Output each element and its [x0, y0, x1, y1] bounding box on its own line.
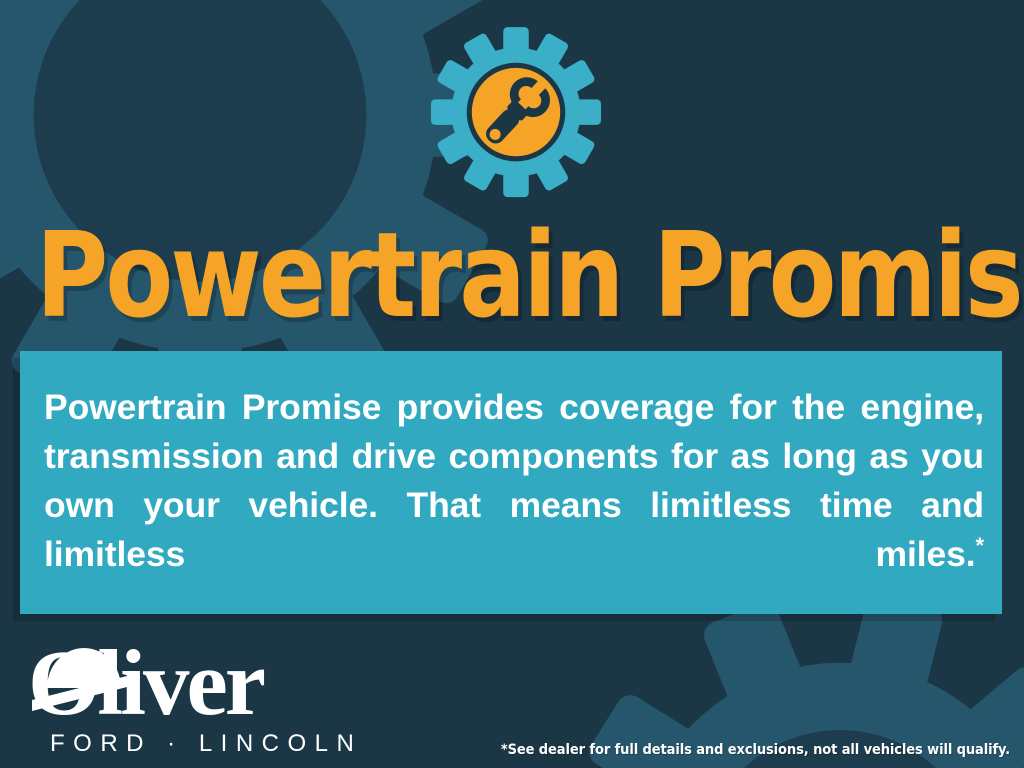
dealer-logo: Oliver FORD · LINCOLN	[28, 638, 328, 760]
bowler-hat-icon	[29, 642, 139, 717]
gear-wrench-icon	[431, 26, 601, 199]
dealer-logo-subtitle: FORD · LINCOLN	[50, 730, 362, 758]
coverage-body-text: Powertrain Promise provides coverage for…	[44, 387, 984, 574]
page-title: Powertrain Promise	[36, 216, 988, 334]
coverage-description-text: Powertrain Promise provides coverage for…	[44, 383, 984, 628]
footnote-marker: *	[976, 533, 984, 558]
coverage-description-panel: Powertrain Promise provides coverage for…	[20, 351, 1002, 614]
powertrain-promise-poster: Powertrain Promise Powertrain Promise pr…	[0, 0, 1024, 768]
disclaimer-text: *See dealer for full details and exclusi…	[501, 742, 1010, 758]
